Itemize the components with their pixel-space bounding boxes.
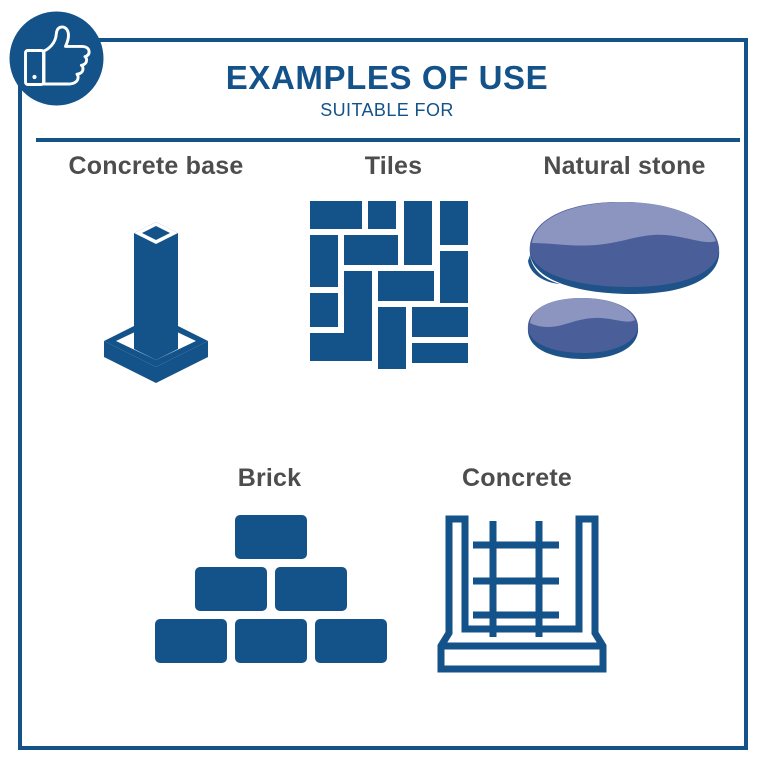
thumbs-up-icon bbox=[8, 10, 105, 107]
example-art bbox=[308, 199, 480, 371]
header: EXAMPLES OF USE SUITABLE FOR bbox=[22, 42, 752, 121]
example-label: Concrete bbox=[462, 464, 572, 493]
example-concrete[interactable]: Concrete bbox=[400, 464, 635, 681]
page-subtitle: SUITABLE FOR bbox=[22, 96, 752, 121]
example-label: Concrete base bbox=[69, 152, 244, 181]
example-art bbox=[520, 199, 730, 371]
natural-stone-boulders-icon bbox=[520, 199, 730, 371]
concrete-base-column-icon bbox=[86, 199, 226, 379]
example-natural-stone[interactable]: Natural stone bbox=[497, 152, 752, 379]
example-art bbox=[86, 199, 226, 379]
stone-large bbox=[528, 202, 719, 294]
examples-row-1: Concrete base bbox=[22, 152, 752, 379]
stone-small bbox=[527, 298, 637, 359]
examples-row-2: Brick C bbox=[22, 464, 752, 681]
infographic-frame: EXAMPLES OF USE SUITABLE FOR Concrete ba… bbox=[18, 38, 748, 750]
example-brick[interactable]: Brick bbox=[140, 464, 400, 681]
concrete-footing-rebar-icon bbox=[427, 511, 607, 681]
thumbs-up-badge bbox=[8, 10, 105, 107]
example-label: Tiles bbox=[365, 152, 423, 181]
example-tiles[interactable]: Tiles bbox=[290, 152, 497, 379]
brick-stack-icon bbox=[155, 511, 385, 671]
page-title: EXAMPLES OF USE bbox=[22, 42, 752, 96]
example-label: Brick bbox=[238, 464, 302, 493]
header-divider bbox=[36, 138, 740, 142]
example-label: Natural stone bbox=[543, 152, 705, 181]
tiles-paving-pattern-icon bbox=[308, 199, 480, 371]
rebar-grid bbox=[473, 521, 559, 637]
example-art bbox=[155, 511, 385, 671]
example-concrete-base[interactable]: Concrete base bbox=[22, 152, 290, 379]
example-art bbox=[427, 511, 607, 681]
